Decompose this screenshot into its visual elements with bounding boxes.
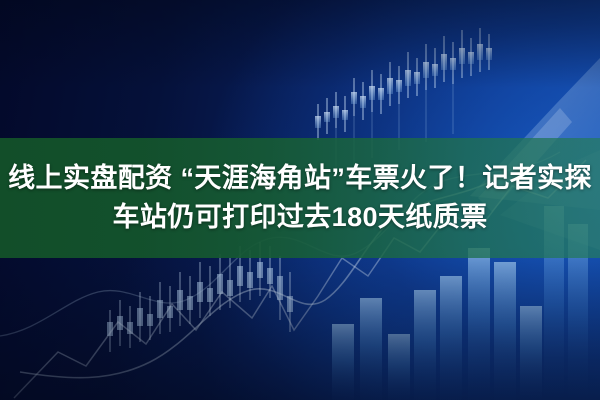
headline-line-1: 线上实盘配资 “天涯海角站”车票火了！记者实探 — [8, 161, 592, 196]
headline-container: 线上实盘配资 “天涯海角站”车票火了！记者实探 车站仍可打印过去180天纸质票 — [0, 138, 600, 258]
stock-news-banner: 线上实盘配资 “天涯海角站”车票火了！记者实探 车站仍可打印过去180天纸质票 — [0, 0, 600, 400]
headline-line-2: 车站仍可打印过去180天纸质票 — [112, 200, 487, 235]
